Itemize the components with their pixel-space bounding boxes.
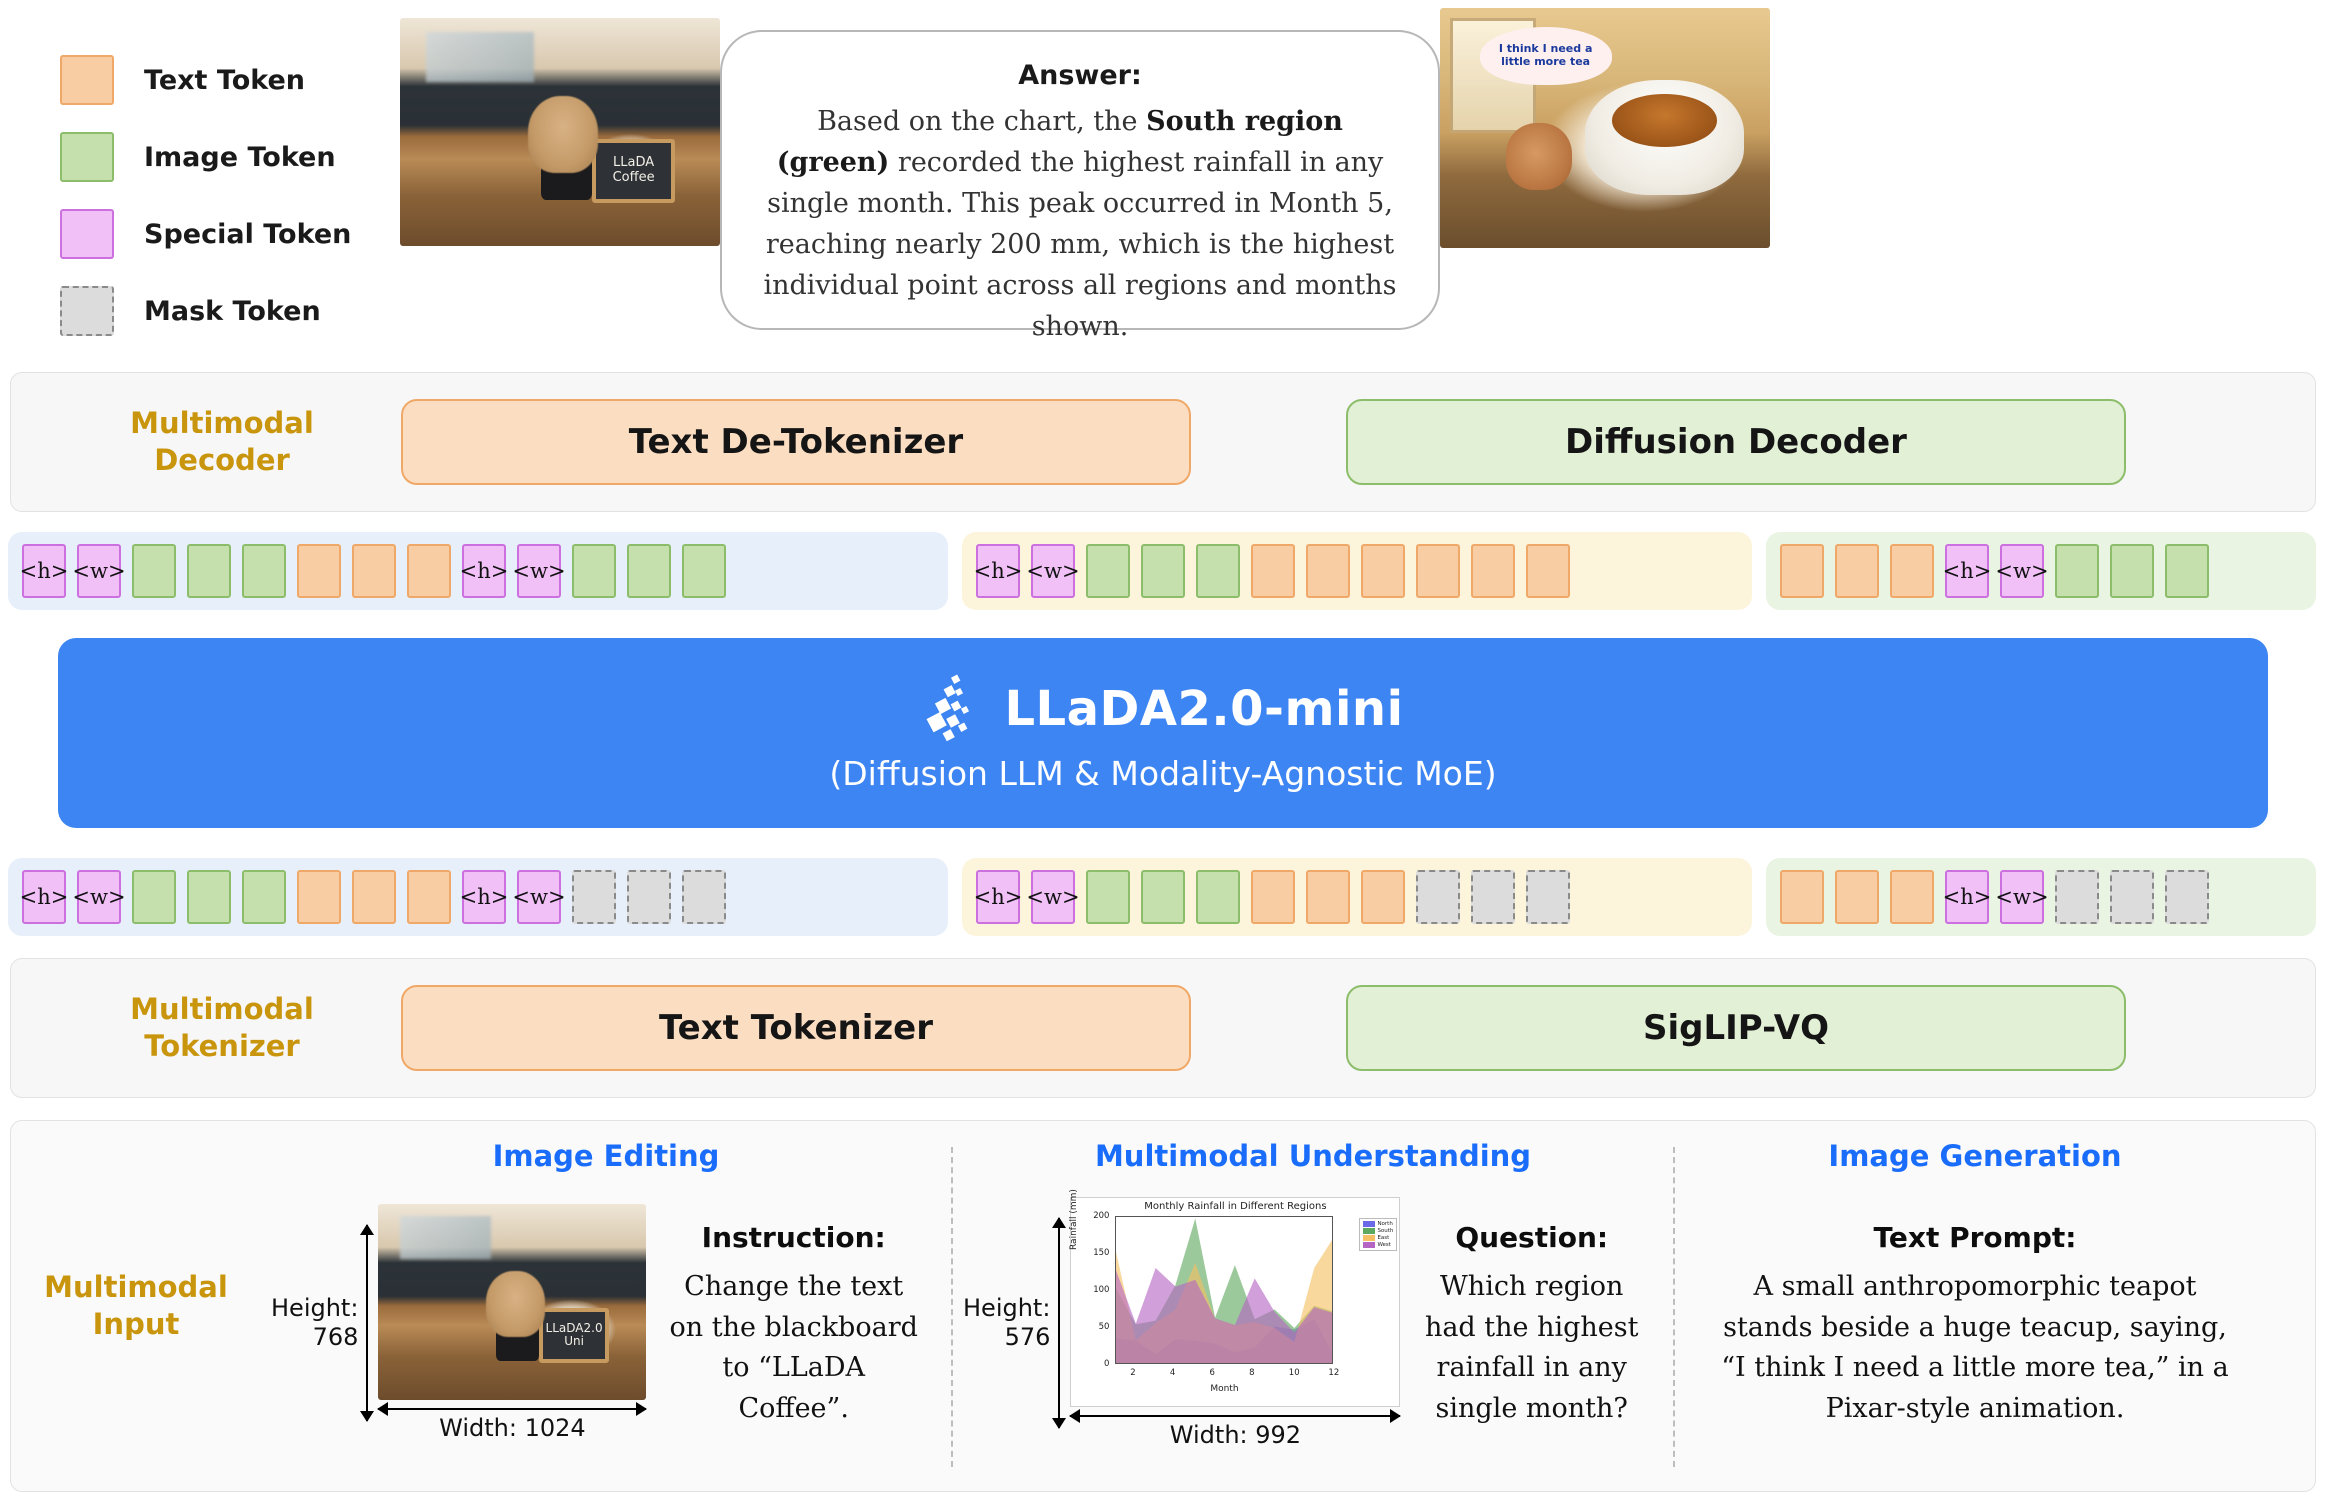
chart-legend-label: West [1377,1242,1391,1248]
teapot-shape [1506,123,1572,190]
chart-legend-label: East [1377,1235,1389,1241]
chart-legend-swatch-icon [1363,1242,1375,1248]
question-block: Question: Which region had the highest r… [1400,1217,1663,1429]
token-special-h: <h> [462,544,506,598]
tea-liquid-shape [1612,94,1718,147]
chart-legend-row: South [1363,1228,1393,1234]
input-cafe-bear-image: LLaDA2.0 Uni [378,1204,646,1400]
token-image [187,870,231,924]
output-token-group-editing: <h><w><h><w> [8,532,948,610]
token-mask [2110,870,2154,924]
width-label: Width: 992 [1070,1421,1400,1449]
chart-xlabel: Month [1115,1384,1333,1394]
token-text [407,870,451,924]
multimodal-tokenizer-band: MultimodalTokenizer Text Tokenizer SigLI… [10,958,2316,1098]
llada-core-model-block[interactable]: LLaDA2.0-mini (Diffusion LLM & Modality-… [58,638,2268,828]
token-image [242,544,286,598]
token-text [1526,544,1570,598]
output-token-group-generation: <h><w> [1766,532,2316,610]
output-token-group-understanding: <h><w> [962,532,1752,610]
token-mask [2055,870,2099,924]
panel-title-understanding: Multimodal Understanding [953,1121,1673,1173]
chart-xtick: 6 [1210,1368,1215,1378]
chart-legend-row: North [1363,1221,1393,1227]
panel-image-generation: Image Generation Text Prompt: A small an… [1675,1121,2275,1491]
token-text [1251,544,1295,598]
height-dimension-understanding: Height:576 [963,1173,1060,1473]
token-text [1306,870,1350,924]
text-token-swatch-icon [60,55,114,105]
core-title-wrap: LLaDA2.0-mini [922,674,1403,744]
rainfall-area-chart: Monthly Rainfall in Different Regions Ra… [1070,1197,1400,1407]
token-text [1780,544,1824,598]
token-text [1361,544,1405,598]
chart-legend-swatch-icon [1363,1228,1375,1234]
token-special-h: <h> [976,870,1020,924]
legend-item-image-token: Image Token [60,132,400,182]
core-model-title: LLaDA2.0-mini [1004,681,1403,737]
text-prompt-body: A small anthropomorphic teapot stands be… [1713,1267,2237,1429]
chart-legend-swatch-icon [1363,1235,1375,1241]
chart-ytick: 0 [1077,1359,1109,1369]
token-special-h: <h> [22,544,66,598]
question-title: Question: [1418,1217,1645,1259]
token-image [132,544,176,598]
height-label: Height:576 [963,1294,1050,1352]
width-label: Width: 1024 [378,1414,646,1442]
token-mask [2165,870,2209,924]
token-mask [1416,870,1460,924]
legend-label: Image Token [144,142,336,173]
chart-ytick: 150 [1077,1248,1109,1258]
token-special-h: <h> [462,870,506,924]
token-special-h: <h> [1945,544,1989,598]
blackboard-text: LLaDA2.0 Uni [539,1308,609,1363]
height-arrow-icon [366,1225,368,1421]
output-token-row: <h><w><h><w> <h><w> <h><w> [0,532,2326,610]
text-prompt-block: Text Prompt: A small anthropomorphic tea… [1695,1217,2255,1429]
chart-xtick: 2 [1130,1368,1135,1378]
panel-multimodal-understanding: Multimodal Understanding Height:576 Mont… [953,1121,1673,1491]
panel-body-understanding: Height:576 Monthly Rainfall in Different… [953,1173,1673,1473]
token-text [1780,870,1824,924]
token-text [1890,544,1934,598]
token-text [1306,544,1350,598]
multimodal-decoder-label: MultimodalDecoder [11,405,401,478]
token-special-h: <h> [1945,870,1989,924]
chart-xtick: 8 [1249,1368,1254,1378]
token-image [1086,544,1130,598]
panel-body-image-editing: Height:768 LLaDA2.0 Uni Width: 1024 Inst… [261,1173,951,1473]
token-special-w: <w> [517,870,561,924]
chart-xtick: 4 [1170,1368,1175,1378]
legend-item-mask-token: Mask Token [60,286,400,336]
input-token-row: <h><w><h><w> <h><w> <h><w> [0,858,2326,936]
image-token-swatch-icon [60,132,114,182]
multimodal-tokenizer-label: MultimodalTokenizer [11,991,401,1064]
output-teapot-teacup-image: I think I need a little more tea [1440,8,1770,248]
token-image [187,544,231,598]
chart-xtick: 10 [1289,1368,1300,1378]
chart-svg [1116,1217,1333,1364]
instruction-title: Instruction: [664,1217,923,1259]
panel-title-image-editing: Image Editing [261,1121,951,1173]
token-image [2110,544,2154,598]
multimodal-input-section: MultimodalInput Image Editing Height:768… [10,1120,2316,1492]
token-image [1196,544,1240,598]
token-special-w: <w> [2000,544,2044,598]
input-token-group-understanding: <h><w> [962,858,1752,936]
core-model-subtitle: (Diffusion LLM & Modality-Agnostic MoE) [829,754,1496,793]
answer-title: Answer: [762,60,1398,91]
token-special-w: <w> [77,870,121,924]
multimodal-input-label: MultimodalInput [11,1121,261,1491]
token-image [132,870,176,924]
special-token-swatch-icon [60,209,114,259]
legend-item-special-token: Special Token [60,209,400,259]
legend-label: Special Token [144,219,351,250]
token-special-w: <w> [2000,870,2044,924]
token-image [242,870,286,924]
token-text [1471,544,1515,598]
height-label: Height:768 [271,1294,358,1352]
siglip-vq-box[interactable]: SigLIP-VQ [1346,985,2126,1071]
top-showcase-row: Text Token Image Token Special Token Mas… [0,0,2326,370]
token-special-h: <h> [22,870,66,924]
token-image [1141,544,1185,598]
answer-line-prefix: Based on the chart, the [817,106,1146,137]
token-image [1086,870,1130,924]
token-text [352,870,396,924]
question-body: Which region had the highest rainfall in… [1418,1267,1645,1429]
token-text [352,544,396,598]
token-text [1835,544,1879,598]
legend-label: Text Token [144,65,305,96]
token-mask [627,870,671,924]
token-text [297,544,341,598]
token-text [1361,870,1405,924]
chart-xtick: 12 [1328,1368,1339,1378]
panel-body-generation: Text Prompt: A small anthropomorphic tea… [1675,1173,2275,1473]
height-arrow-icon [1058,1218,1060,1428]
chart-legend-label: North [1377,1221,1392,1227]
answer-bubble: Answer: Based on the chart, the South re… [720,30,1440,330]
text-tokenizer-box[interactable]: Text Tokenizer [401,985,1191,1071]
mask-token-swatch-icon [60,286,114,336]
multimodal-decoder-band: MultimodalDecoder Text De-Tokenizer Diff… [10,372,2316,512]
token-special-w: <w> [1031,544,1075,598]
token-image [627,544,671,598]
chart-legend-row: West [1363,1242,1393,1248]
token-special-w: <w> [517,544,561,598]
token-special-h: <h> [976,544,1020,598]
text-de-tokenizer-box[interactable]: Text De-Tokenizer [401,399,1191,485]
token-text [1835,870,1879,924]
token-special-w: <w> [77,544,121,598]
token-special-w: <w> [1031,870,1075,924]
chart-title: Monthly Rainfall in Different Regions [1071,1198,1399,1212]
chart-legend: NorthSouthEastWest [1359,1218,1397,1251]
answer-body: Based on the chart, the South region (gr… [762,101,1398,347]
token-text [1890,870,1934,924]
width-arrow-icon [378,1408,646,1410]
token-image [1196,870,1240,924]
instruction-block: Instruction: Change the text on the blac… [646,1217,941,1429]
chart-ytick: 200 [1077,1211,1109,1221]
legend-label: Mask Token [144,296,321,327]
instruction-body: Change the text on the blackboard to “LL… [664,1267,923,1429]
width-arrow-icon [1070,1415,1400,1417]
input-token-group-editing: <h><w><h><w> [8,858,948,936]
chart-ytick: 100 [1077,1285,1109,1295]
llada-diamond-logo-icon [922,674,984,744]
panel-image-editing: Image Editing Height:768 LLaDA2.0 Uni Wi… [261,1121,951,1491]
panel-title-image-generation: Image Generation [1675,1121,2275,1173]
blackboard-text: LLaDA Coffee [592,139,675,203]
text-prompt-title: Text Prompt: [1713,1217,2237,1259]
token-mask [682,870,726,924]
token-image [682,544,726,598]
input-token-group-generation: <h><w> [1766,858,2316,936]
legend-item-text-token: Text Token [60,55,400,105]
token-text [1416,544,1460,598]
height-dimension-editing: Height:768 [271,1173,368,1473]
token-image [1141,870,1185,924]
speech-bubble-text: I think I need a little more tea [1480,27,1612,85]
editing-image-wrap: LLaDA2.0 Uni Width: 1024 [378,1204,646,1442]
token-text [1251,870,1295,924]
token-image [2165,544,2209,598]
token-image [572,544,616,598]
token-text [407,544,451,598]
chart-plot-area [1115,1216,1333,1364]
bear-figure [496,1302,539,1361]
token-legend: Text Token Image Token Special Token Mas… [0,0,400,336]
chart-ytick: 50 [1077,1322,1109,1332]
token-text [297,870,341,924]
chart-wrap: Monthly Rainfall in Different Regions Ra… [1070,1197,1400,1449]
chart-legend-label: South [1377,1228,1393,1234]
token-mask [1471,870,1515,924]
diffusion-decoder-box[interactable]: Diffusion Decoder [1346,399,2126,485]
output-cafe-bear-image: LLaDA Coffee [400,18,720,246]
token-mask [572,870,616,924]
token-mask [1526,870,1570,924]
bear-figure [541,132,592,200]
chart-legend-row: East [1363,1235,1393,1241]
chart-legend-swatch-icon [1363,1221,1375,1227]
token-image [2055,544,2099,598]
